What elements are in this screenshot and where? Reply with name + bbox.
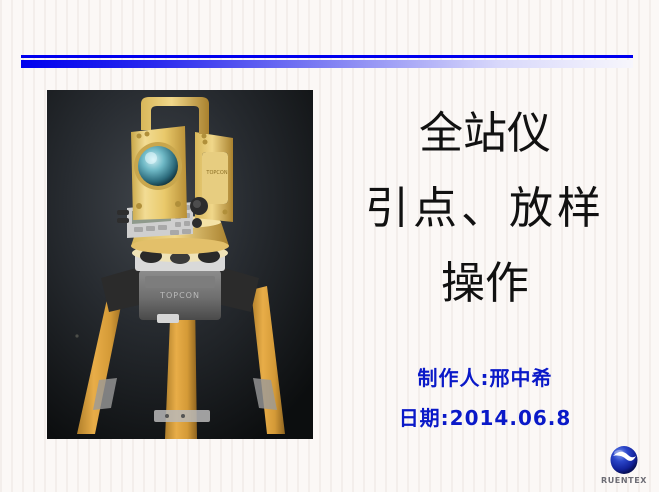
title-line-2: 引点、放样 <box>330 171 640 246</box>
title-line-3: 操作 <box>330 246 640 321</box>
slide-credits: 制作人:邢中希 日期:2014.06.8 <box>330 358 640 438</box>
ruentex-logo: RUENTEX <box>594 445 654 489</box>
title-line-1: 全站仪 <box>330 96 640 171</box>
telescope-housing <box>131 126 187 220</box>
presentation-slide: TOPCON <box>0 0 659 492</box>
svg-text:TOPCON: TOPCON <box>159 291 200 300</box>
slide-title: 全站仪 引点、放样 操作 <box>330 96 640 321</box>
author-line: 制作人:邢中希 <box>330 358 640 398</box>
ruentex-logo-text: RUENTEX <box>594 476 654 485</box>
divider-solid-line <box>21 55 633 58</box>
total-station-photo: TOPCON <box>47 90 313 439</box>
svg-text:TOPCON: TOPCON <box>205 170 227 176</box>
divider-gradient-bar <box>21 60 633 68</box>
header-divider <box>21 55 633 69</box>
total-station-illustration: TOPCON <box>47 90 313 439</box>
ruentex-globe-icon <box>594 445 654 475</box>
date-line: 日期:2014.06.8 <box>330 398 640 438</box>
